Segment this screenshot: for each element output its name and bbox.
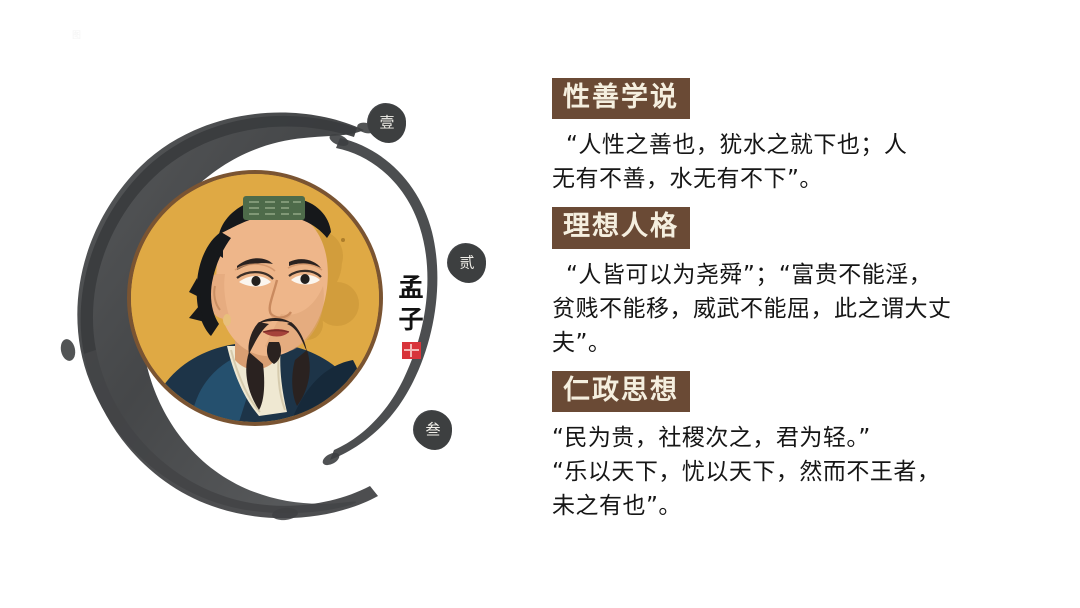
quote-line: 夫”。 (552, 326, 1022, 360)
corner-watermark: 图 (72, 32, 98, 48)
section-heading-1: 性善学说 (552, 78, 690, 119)
ring-badge-one-label: 壹 (379, 115, 394, 130)
section-xing-shan: 性善学说 “人性之善也，犹水之就下也；人 无有不善，水无有不下”。 (552, 78, 1052, 196)
section-body-1: “人性之善也，犹水之就下也；人 无有不善，水无有不下”。 (552, 128, 1022, 196)
signature-char-second: 子 (393, 304, 429, 336)
ring-badge-one: 壹 (368, 104, 406, 142)
ring-badge-three: 叁 (414, 411, 452, 449)
content-panel: 性善学说 “人性之善也，犹水之就下也；人 无有不善，水无有不下”。 理想人格 “… (552, 78, 1052, 523)
portrait-panel: 壹 贰 叁 孟 子 (48, 82, 528, 532)
quote-line: 贫贱不能移，威武不能屈，此之谓大丈 (552, 292, 1022, 326)
section-heading-3: 仁政思想 (552, 371, 690, 412)
red-seal-stamp-icon (402, 342, 421, 359)
ring-badge-two: 贰 (448, 244, 486, 282)
ring-badge-two-label: 贰 (459, 255, 474, 270)
ring-badge-three-label: 叁 (425, 422, 440, 437)
slide-root: 图 (0, 0, 1080, 608)
portrait-illustration (131, 174, 379, 422)
section-heading-2: 理想人格 (552, 207, 690, 248)
section-body-2: “人皆可以为尧舜”；“富贵不能淫， 贫贱不能移，威武不能屈，此之谓大丈 夫”。 (552, 258, 1022, 360)
quote-line: “人性之善也，犹水之就下也；人 (552, 128, 1022, 162)
quote-line: “乐以天下，忧以天下，然而不王者， (552, 455, 1022, 489)
section-ren-zheng: 仁政思想 “民为贵，社稷次之，君为轻。” “乐以天下，忧以天下，然而不王者， 未… (552, 371, 1052, 523)
quote-line: 无有不善，水无有不下”。 (552, 162, 1022, 196)
section-body-3: “民为贵，社稷次之，君为轻。” “乐以天下，忧以天下，然而不王者， 未之有也”。 (552, 421, 1022, 523)
quote-line: 未之有也”。 (552, 489, 1022, 523)
quote-line: “人皆可以为尧舜”；“富贵不能淫， (552, 258, 1022, 292)
portrait-avatar (131, 174, 379, 422)
signature-char-first: 孟 (393, 272, 429, 304)
portrait-signature: 孟 子 (393, 272, 429, 359)
quote-line: “民为贵，社稷次之，君为轻。” (552, 421, 1022, 455)
section-li-xiang-ren-ge: 理想人格 “人皆可以为尧舜”；“富贵不能淫， 贫贱不能移，威武不能屈，此之谓大丈… (552, 207, 1052, 359)
